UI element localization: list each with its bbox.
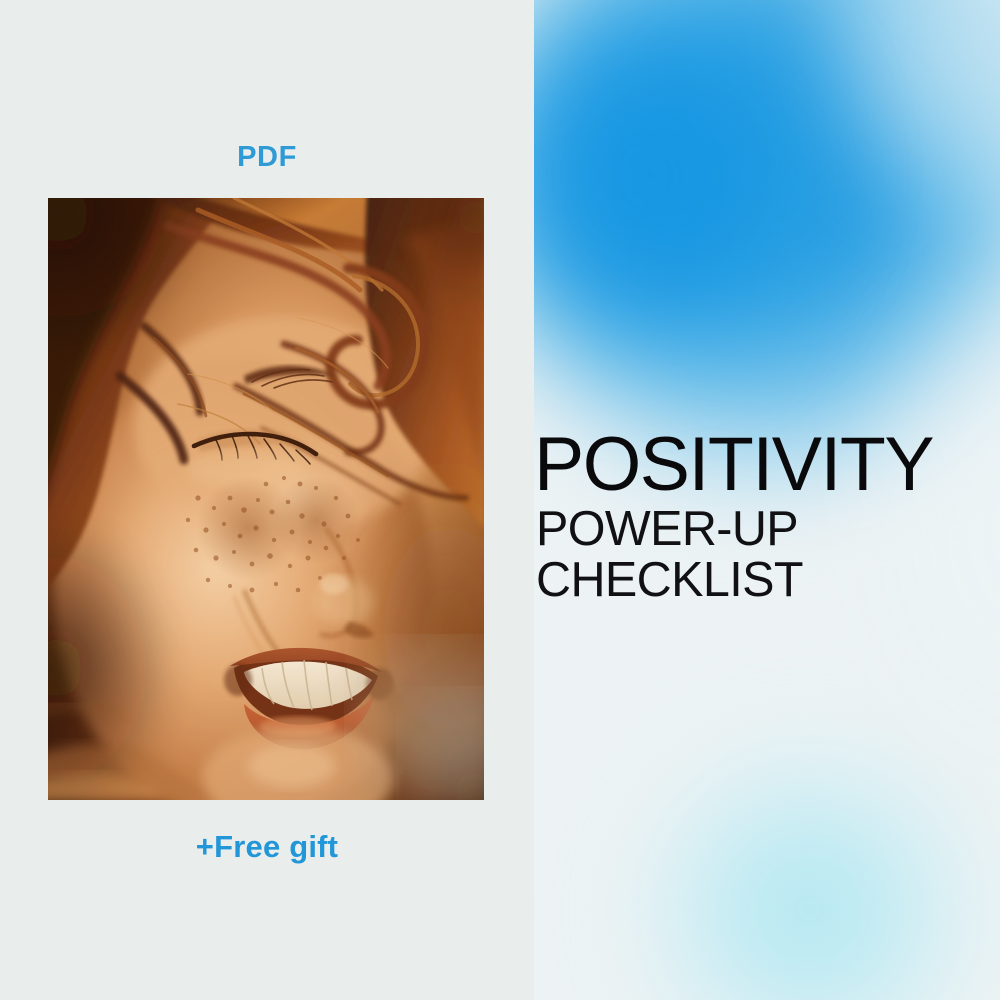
page-subtitle: POWER-UP CHECKLIST [534, 504, 1000, 606]
page-title: POSITIVITY [534, 426, 995, 504]
headline-block: POSITIVITY POWER-UP CHECKLIST [534, 426, 1000, 606]
pdf-badge-label: PDF [0, 142, 534, 172]
left-panel: PDF [0, 0, 534, 1000]
portrait-photo [48, 198, 484, 800]
gradient-blob-lower-cyan [594, 700, 1000, 1000]
portrait-photo-illustration [48, 198, 484, 800]
subtitle-line-1: POWER-UP [536, 504, 995, 555]
promo-card: PDF [0, 0, 1000, 1000]
free-gift-label: +Free gift [0, 830, 534, 864]
subtitle-line-2: CHECKLIST [536, 555, 995, 606]
